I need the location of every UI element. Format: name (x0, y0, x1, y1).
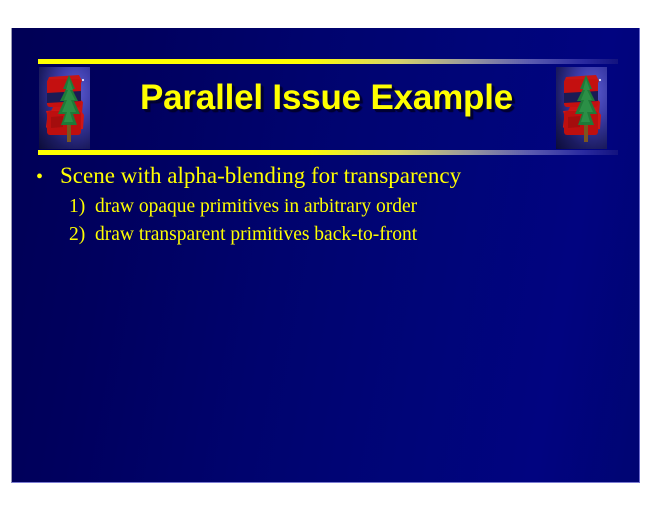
slide-body: • Scene with alpha-blending for transpar… (12, 160, 640, 249)
bullet-item-level2: 1) draw opaque primitives in arbitrary o… (69, 193, 640, 221)
bullet-text: draw opaque primitives in arbitrary orde… (95, 193, 417, 221)
title-rule-top (38, 59, 618, 64)
bullet-marker: 2) (69, 221, 95, 249)
slide-title-band: Parallel Issue Example (12, 28, 640, 158)
presentation-slide: Parallel Issue Example • Scene with alph… (11, 28, 640, 483)
bullet-marker: 1) (69, 193, 95, 221)
title-rule-bottom (38, 150, 618, 155)
bullet-item-level1: • Scene with alpha-blending for transpar… (36, 160, 640, 193)
bullet-item-level2: 2) draw transparent primitives back-to-f… (69, 221, 640, 249)
bullet-text: Scene with alpha-blending for transparen… (60, 160, 461, 191)
bullet-text: draw transparent primitives back-to-fron… (95, 221, 417, 249)
bullet-marker: • (36, 162, 60, 193)
page-title: Parallel Issue Example (12, 76, 640, 120)
